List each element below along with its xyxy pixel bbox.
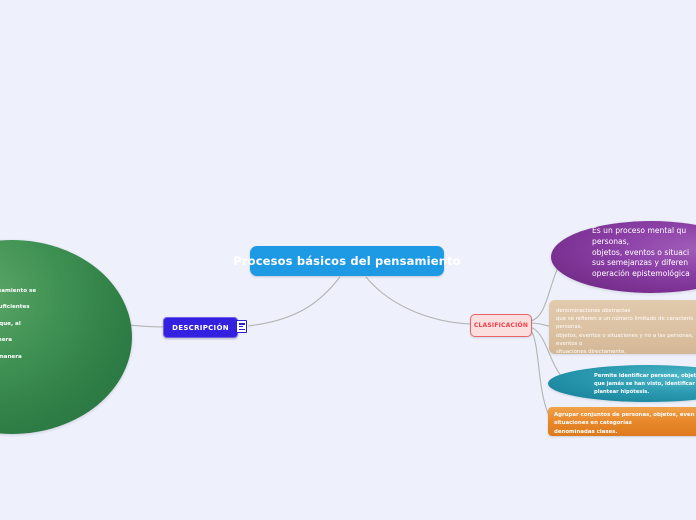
edge-descripcion-green xyxy=(128,325,163,327)
branch-descripcion[interactable]: DESCRIPCIÓN xyxy=(163,317,238,338)
edge-center-descripcion xyxy=(248,277,340,326)
branch-clasificacion[interactable]: CLASIFICACIÓN xyxy=(470,314,532,337)
node-orange-box-text: Agrupar conjuntos de personas, objetos, … xyxy=(554,411,696,436)
branch-clasificacion-label: CLASIFICACIÓN xyxy=(474,322,528,329)
mindmap-canvas: e las habilidades básicas del pensamient… xyxy=(0,0,696,520)
note-icon[interactable] xyxy=(236,320,247,333)
branch-descripcion-label: DESCRIPCIÓN xyxy=(172,324,229,332)
center-node[interactable]: Procesos básicos del pensamiento xyxy=(250,246,444,276)
node-green-circle-text: e las habilidades básicas del pensamient… xyxy=(0,287,130,369)
center-node-label: Procesos básicos del pensamiento xyxy=(233,254,460,268)
node-tan-box-text: denominaciones abstractas que se refiere… xyxy=(556,307,696,356)
edge-clasificacion-tan xyxy=(530,323,549,326)
edge-center-clasificacion xyxy=(366,277,470,324)
node-purple-ellipse-text: Es un proceso mental qu personas, objeto… xyxy=(592,226,696,280)
node-teal-ellipse-text: Permite identificar personas, objetos, q… xyxy=(594,373,696,397)
